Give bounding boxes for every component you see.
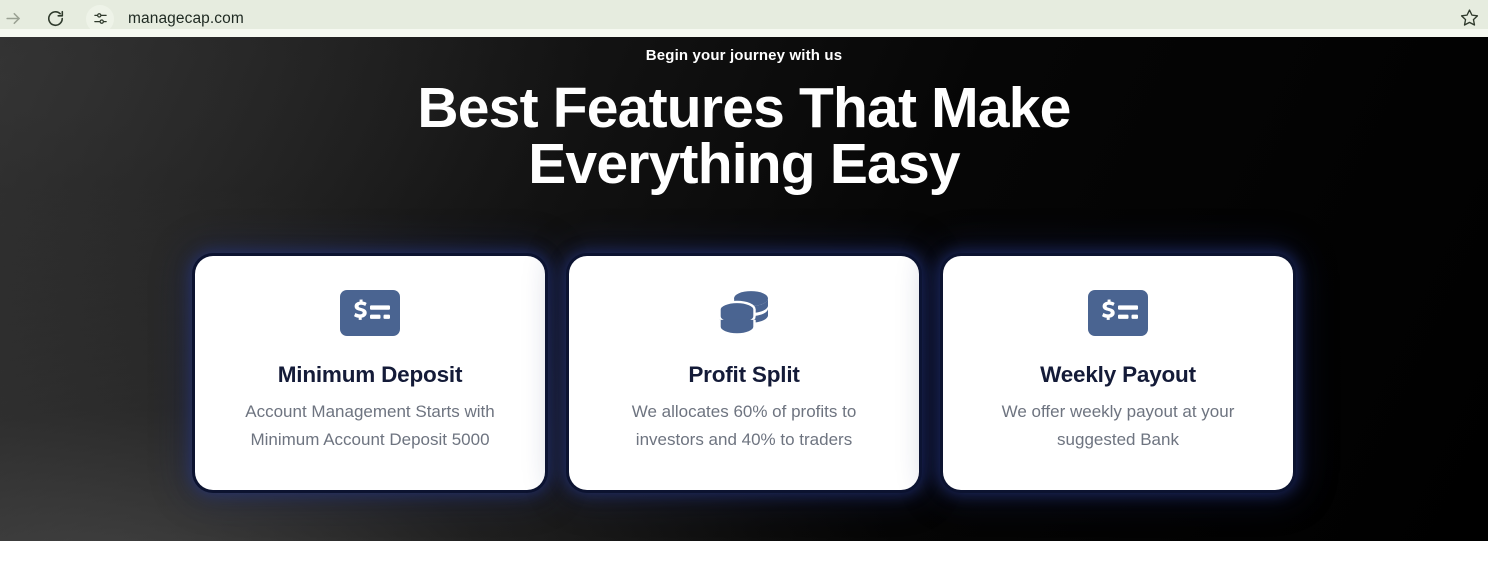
hero-eyebrow: Begin your journey with us bbox=[0, 47, 1488, 64]
money-note-dollar-icon bbox=[339, 284, 401, 342]
url-text[interactable]: managecap.com bbox=[128, 10, 244, 28]
site-settings-icon[interactable] bbox=[86, 5, 114, 33]
feature-card-desc: We offer weekly payout at your suggested… bbox=[958, 398, 1278, 454]
feature-card-list: Minimum Deposit Account Management Start… bbox=[0, 256, 1488, 490]
page-title: Best Features That Make Everything Easy bbox=[0, 80, 1488, 192]
feature-card[interactable]: Minimum Deposit Account Management Start… bbox=[195, 256, 545, 490]
feature-card-title: Minimum Deposit bbox=[278, 362, 463, 388]
feature-card-desc: We allocates 60% of profits to investors… bbox=[584, 398, 904, 454]
page-content-below-hero bbox=[0, 541, 1488, 578]
star-outline-icon[interactable] bbox=[1454, 2, 1484, 32]
coins-stack-icon bbox=[715, 284, 773, 342]
feature-card[interactable]: Weekly Payout We offer weekly payout at … bbox=[943, 256, 1293, 490]
hero-title-line-1: Best Features That Make bbox=[140, 80, 1348, 136]
reload-icon[interactable] bbox=[38, 2, 72, 36]
money-note-dollar-icon bbox=[1087, 284, 1149, 342]
forward-arrow-icon[interactable] bbox=[0, 2, 30, 36]
feature-card-title: Weekly Payout bbox=[1040, 362, 1196, 388]
feature-card[interactable]: Profit Split We allocates 60% of profits… bbox=[569, 256, 919, 490]
hero-section: Begin your journey with us Best Features… bbox=[0, 37, 1488, 541]
hero-title-line-2: Everything Easy bbox=[140, 136, 1348, 192]
feature-card-title: Profit Split bbox=[688, 362, 799, 388]
browser-toolbar: managecap.com bbox=[0, 0, 1488, 37]
feature-card-desc: Account Management Starts with Minimum A… bbox=[210, 398, 530, 454]
